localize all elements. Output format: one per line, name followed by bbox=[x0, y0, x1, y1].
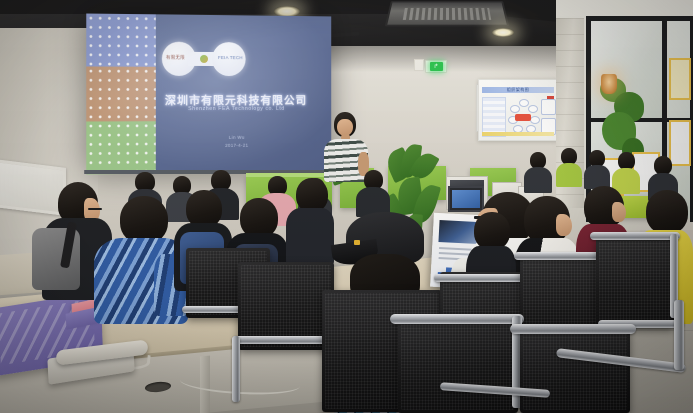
chair-mesh bbox=[241, 265, 331, 347]
poster-node bbox=[528, 105, 538, 113]
poster-table-left bbox=[482, 97, 506, 137]
air-conditioner-unit bbox=[385, 1, 509, 26]
poster-footer-band bbox=[482, 132, 554, 136]
audience-member bbox=[356, 170, 390, 214]
presentation-slide: 有限无限 FEIA TECH 深圳市有限元科技有限公司 Shenzhen FEA… bbox=[86, 14, 331, 175]
chair-frame-leg bbox=[232, 336, 240, 402]
org-chart-poster: 组织架构图 bbox=[478, 79, 558, 141]
student-left-5 bbox=[286, 178, 334, 264]
chair-backrest bbox=[596, 238, 674, 328]
chair-armrest bbox=[390, 314, 524, 324]
chair-backrest bbox=[520, 330, 630, 413]
chair-mesh bbox=[599, 241, 671, 325]
window-poster-4 bbox=[669, 58, 691, 100]
head bbox=[474, 212, 510, 250]
poster-node bbox=[519, 99, 529, 107]
audience-member bbox=[556, 148, 582, 186]
chair-armrest bbox=[434, 274, 534, 282]
head bbox=[240, 198, 278, 238]
audience-member bbox=[524, 152, 552, 192]
chair-armrest bbox=[590, 232, 680, 240]
chair-backrest bbox=[398, 318, 518, 413]
face-profile bbox=[556, 214, 572, 236]
poster-node bbox=[510, 105, 520, 113]
poster-node bbox=[530, 116, 540, 124]
face-profile bbox=[612, 202, 626, 222]
exit-arrow-icon: ↱ bbox=[433, 64, 438, 70]
torso bbox=[524, 167, 552, 193]
chair-mesh bbox=[401, 321, 515, 410]
head bbox=[646, 190, 688, 234]
torso bbox=[286, 208, 334, 266]
exit-sign-panel: ↱ bbox=[430, 62, 443, 71]
window-mullion-top bbox=[586, 16, 693, 21]
chair-armrest bbox=[510, 324, 636, 334]
wall-switch-plate bbox=[414, 59, 424, 71]
head bbox=[120, 196, 168, 244]
ac-vent bbox=[403, 8, 491, 20]
chair-frame-upright-foreground bbox=[674, 300, 684, 370]
cap-logo bbox=[354, 240, 360, 245]
torso-green bbox=[556, 163, 582, 187]
audience-member bbox=[584, 150, 610, 188]
chair-mesh bbox=[523, 333, 627, 410]
seminar-room-photo: 有限无限 FEIA TECH 深圳市有限元科技有限公司 Shenzhen FEA… bbox=[0, 0, 693, 413]
poster-box-1 bbox=[541, 99, 556, 115]
poster-title: 组织架构图 bbox=[479, 87, 557, 93]
recessed-downlight-2 bbox=[492, 28, 514, 37]
wall-lamp bbox=[601, 74, 617, 94]
emergency-exit-sign: ↱ bbox=[425, 60, 447, 73]
projector-glow bbox=[86, 14, 331, 175]
poster-center-node bbox=[515, 114, 531, 121]
projection-screen: 有限无限 FEIA TECH 深圳市有限元科技有限公司 Shenzhen FEA… bbox=[86, 14, 331, 175]
head bbox=[296, 178, 328, 212]
